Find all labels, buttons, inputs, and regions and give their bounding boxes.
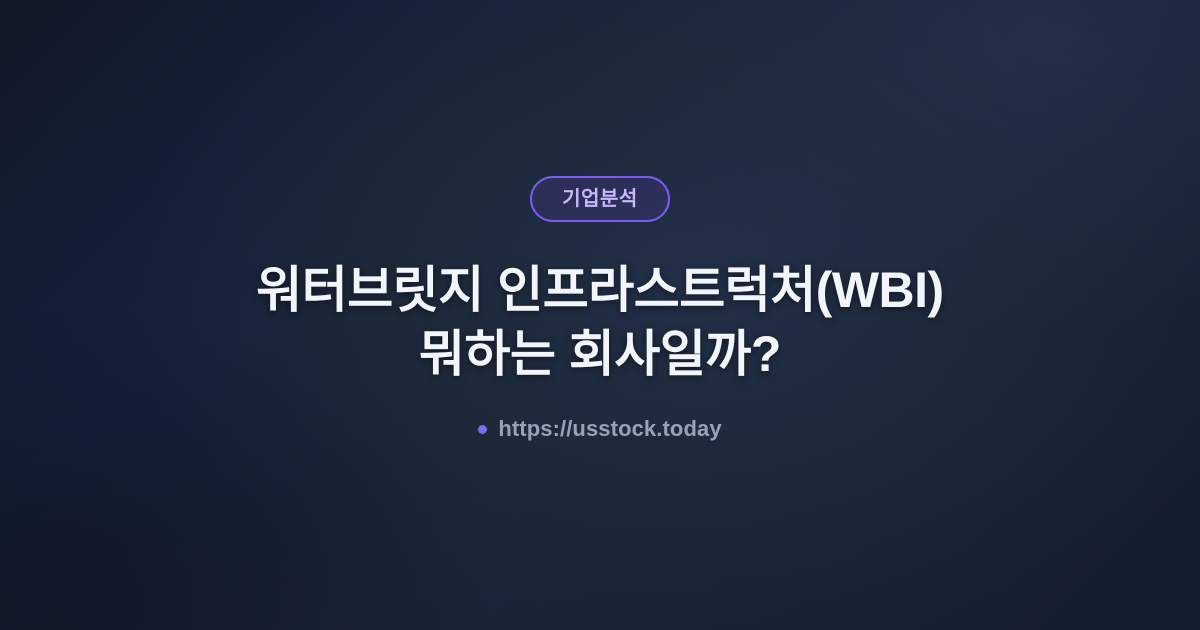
dot-icon: [478, 425, 487, 434]
page-title: 워터브릿지 인프라스트럭처(WBI) 뭐하는 회사일까?: [256, 258, 943, 386]
category-badge-label: 기업분석: [562, 189, 638, 209]
page-title-line-1: 워터브릿지 인프라스트럭처(WBI): [256, 258, 943, 322]
card-content: 기업분석 워터브릿지 인프라스트럭처(WBI) 뭐하는 회사일까? https:…: [0, 176, 1200, 440]
og-card: 기업분석 워터브릿지 인프라스트럭처(WBI) 뭐하는 회사일까? https:…: [0, 0, 1200, 630]
site-url-label: https://usstock.today: [498, 418, 721, 440]
site-url-row: https://usstock.today: [478, 418, 721, 440]
category-badge: 기업분석: [530, 176, 670, 222]
page-title-line-2: 뭐하는 회사일까?: [256, 322, 943, 386]
